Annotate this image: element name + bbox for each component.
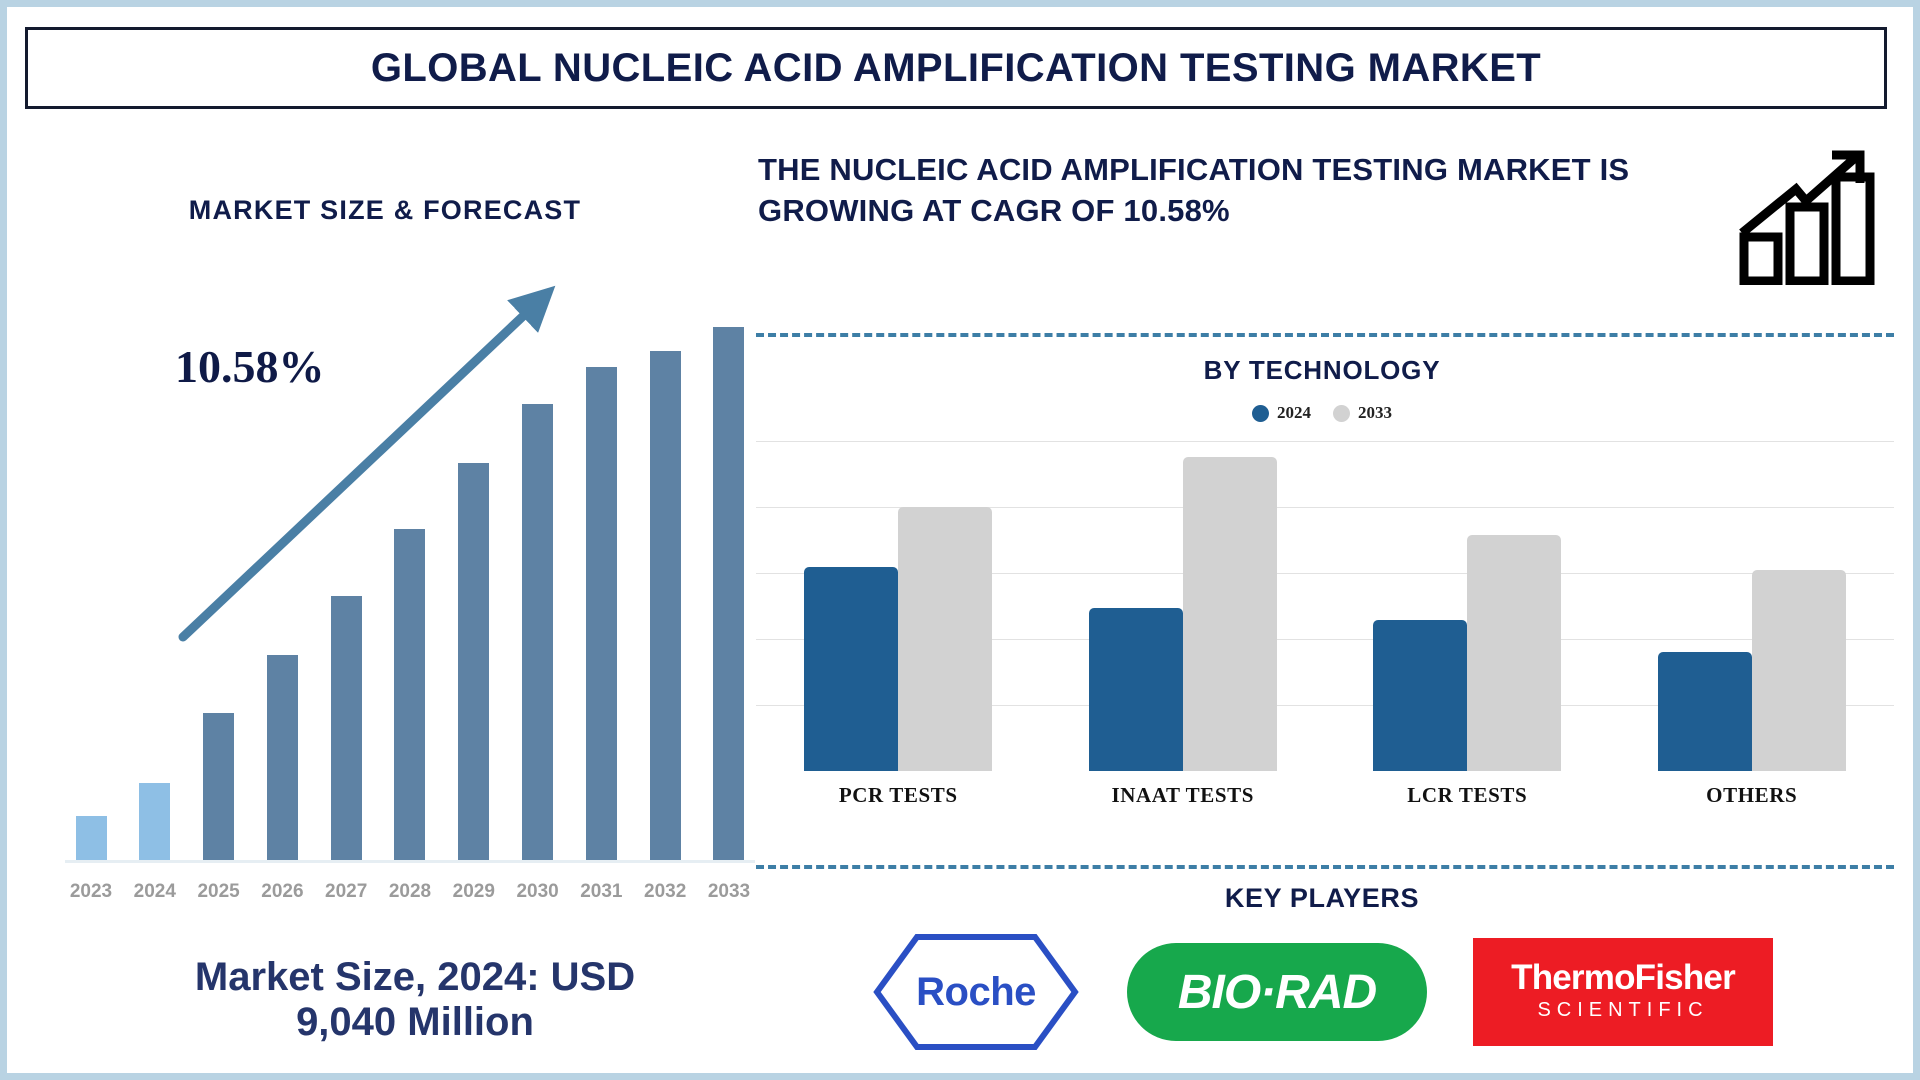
by-technology-category-label: PCR TESTS <box>773 783 1023 808</box>
market-size-year-label: 2032 <box>639 881 691 903</box>
market-size-value-line1: Market Size, 2024: USD <box>65 955 765 1000</box>
by-technology-bar <box>804 567 898 771</box>
poster-title-box: GLOBAL NUCLEIC ACID AMPLIFICATION TESTIN… <box>25 27 1887 109</box>
market-size-bar-slot <box>575 300 627 860</box>
by-technology-bar <box>1183 457 1277 771</box>
legend-label: 2033 <box>1358 403 1392 423</box>
by-technology-category-label: OTHERS <box>1627 783 1877 808</box>
by-technology-bar <box>898 507 992 771</box>
market-size-bar <box>267 655 298 860</box>
market-size-bars <box>65 300 755 863</box>
biorad-logo: BIO·RAD <box>1127 943 1427 1041</box>
infographic-poster: GLOBAL NUCLEIC ACID AMPLIFICATION TESTIN… <box>0 0 1920 1080</box>
market-size-forecast-heading: MARKET SIZE & FORECAST <box>25 195 745 226</box>
market-size-year-label: 2024 <box>129 881 181 903</box>
market-size-bar <box>458 463 489 860</box>
market-size-year-label: 2023 <box>65 881 117 903</box>
market-size-bar <box>522 404 553 860</box>
key-players-heading: KEY PLAYERS <box>752 883 1892 914</box>
market-size-bar-slot <box>256 300 308 860</box>
by-technology-legend: 20242033 <box>752 403 1892 423</box>
by-technology-chart <box>756 441 1894 771</box>
by-technology-bar <box>1467 535 1561 771</box>
market-size-bar <box>394 529 425 860</box>
market-size-bar <box>139 783 170 860</box>
market-size-value-line2: 9,040 Million <box>65 1000 765 1045</box>
bar-chart-growth-icon <box>1734 145 1884 285</box>
market-size-bar <box>586 367 617 860</box>
left-panel: MARKET SIZE & FORECAST 10.58% 2023202420… <box>25 115 745 1055</box>
market-size-year-labels: 2023202420252026202720282029203020312032… <box>65 881 755 903</box>
right-panel: THE NUCLEIC ACID AMPLIFICATION TESTING M… <box>752 115 1902 1065</box>
market-size-bar <box>650 351 681 860</box>
market-size-bar <box>713 327 744 860</box>
by-technology-bar <box>1373 620 1467 771</box>
thermofisher-logo-text: ThermoFisher <box>1511 960 1735 995</box>
market-size-bar-slot <box>448 300 500 860</box>
market-size-bar-slot <box>703 300 755 860</box>
market-size-year-label: 2030 <box>512 881 564 903</box>
market-size-year-label: 2029 <box>448 881 500 903</box>
market-size-bar <box>331 596 362 860</box>
thermofisher-logo: ThermoFisher SCIENTIFIC <box>1473 938 1773 1046</box>
roche-logo: Roche <box>871 931 1081 1053</box>
market-size-year-label: 2027 <box>320 881 372 903</box>
legend-item[interactable]: 2033 <box>1333 403 1392 423</box>
by-technology-category-labels: PCR TESTSINAAT TESTSLCR TESTSOTHERS <box>756 783 1894 808</box>
thermofisher-logo-subtitle: SCIENTIFIC <box>1537 995 1708 1025</box>
market-size-bar-slot <box>129 300 181 860</box>
market-size-bar <box>76 816 107 860</box>
by-technology-bar-group <box>1658 441 1846 771</box>
by-technology-bar-group <box>804 441 992 771</box>
market-size-bar-slot <box>512 300 564 860</box>
divider-bottom <box>756 865 1894 869</box>
market-size-year-label: 2025 <box>193 881 245 903</box>
biorad-logo-text: BIO·RAD <box>1178 965 1376 1020</box>
market-size-year-label: 2033 <box>703 881 755 903</box>
market-size-bar-chart: 2023202420252026202720282029203020312032… <box>55 295 755 975</box>
by-technology-bar-group <box>1373 441 1561 771</box>
market-size-bar-slot <box>639 300 691 860</box>
legend-swatch-icon <box>1252 405 1269 422</box>
by-technology-heading: BY TECHNOLOGY <box>752 355 1892 386</box>
market-size-bar <box>203 713 234 860</box>
market-size-value: Market Size, 2024: USD 9,040 Million <box>65 955 765 1045</box>
market-size-year-label: 2026 <box>256 881 308 903</box>
legend-item[interactable]: 2024 <box>1252 403 1311 423</box>
by-technology-bar <box>1089 608 1183 771</box>
market-size-bar-slot <box>384 300 436 860</box>
legend-swatch-icon <box>1333 405 1350 422</box>
market-size-bar-slot <box>320 300 372 860</box>
by-technology-bar-group <box>1089 441 1277 771</box>
market-size-bar-slot <box>65 300 117 860</box>
divider-top <box>756 333 1894 337</box>
cagr-statement: THE NUCLEIC ACID AMPLIFICATION TESTING M… <box>758 149 1638 231</box>
market-size-bar-slot <box>193 300 245 860</box>
by-technology-category-label: INAAT TESTS <box>1058 783 1308 808</box>
by-technology-category-label: LCR TESTS <box>1342 783 1592 808</box>
by-technology-bar <box>1752 570 1846 771</box>
roche-logo-text: Roche <box>871 931 1081 1053</box>
by-technology-bars <box>756 441 1894 771</box>
market-size-year-label: 2031 <box>575 881 627 903</box>
market-size-year-label: 2028 <box>384 881 436 903</box>
key-players-logos: Roche BIO·RAD ThermoFisher SCIENTIFIC <box>752 927 1892 1057</box>
legend-label: 2024 <box>1277 403 1311 423</box>
page-title: GLOBAL NUCLEIC ACID AMPLIFICATION TESTIN… <box>371 46 1541 91</box>
by-technology-bar <box>1658 652 1752 771</box>
